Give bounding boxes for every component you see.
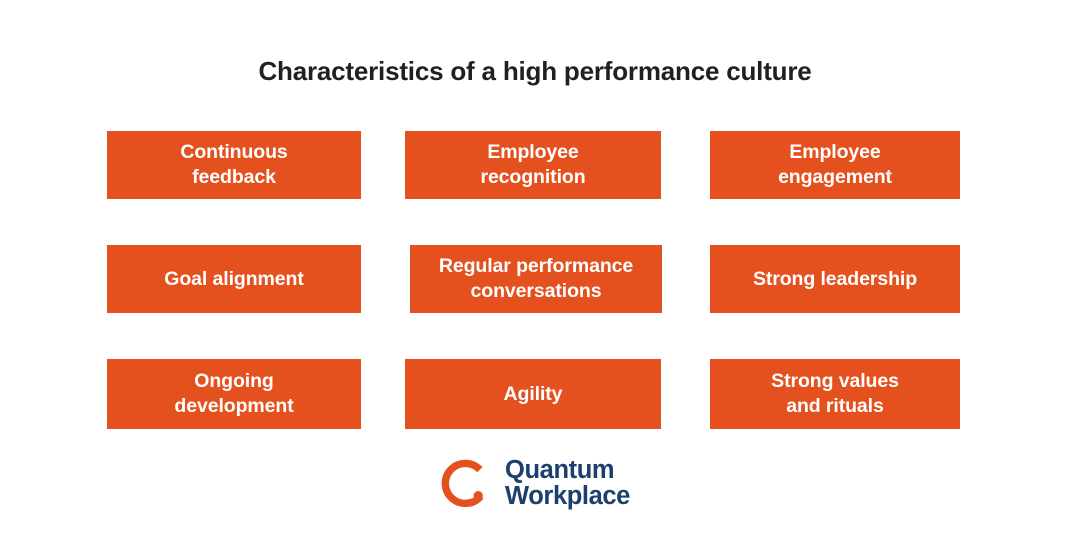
card-line-2: development (174, 395, 293, 417)
card-line-1: Ongoing (194, 370, 273, 392)
card-line-2: conversations (471, 280, 602, 302)
card-line-1: Strong values (771, 370, 899, 392)
characteristic-card-label: Ongoingdevelopment (113, 369, 355, 419)
characteristic-card-label: Strong leadership (716, 267, 954, 292)
characteristic-card: Strong leadership (710, 245, 960, 313)
infographic-canvas: Characteristics of a high performance cu… (0, 0, 1070, 535)
characteristics-grid: Continuousfeedback Employeerecognition E… (0, 0, 1070, 460)
characteristic-card-label: Employeerecognition (411, 140, 655, 190)
card-line-2: recognition (480, 166, 585, 188)
characteristic-card: Agility (405, 359, 661, 429)
characteristic-card: Employeerecognition (405, 131, 661, 199)
characteristic-card-label: Regular performanceconversations (416, 254, 656, 304)
characteristic-card: Strong valuesand rituals (710, 359, 960, 429)
characteristic-card: Ongoingdevelopment (107, 359, 361, 429)
quantum-workplace-ring-icon (440, 456, 494, 510)
characteristic-card-label: Goal alignment (113, 267, 355, 292)
card-line-2: and rituals (786, 395, 884, 417)
card-line-1: Continuous (180, 141, 287, 163)
card-line-1: Employee (487, 141, 578, 163)
characteristic-card-label: Agility (411, 382, 655, 407)
characteristic-card-label: Strong valuesand rituals (716, 369, 954, 419)
brand-logo: Quantum Workplace (0, 452, 1070, 514)
card-line-2: engagement (778, 166, 892, 188)
brand-logo-line-2: Workplace (505, 483, 630, 509)
characteristic-card: Regular performanceconversations (410, 245, 662, 313)
card-line-1: Regular performance (439, 255, 633, 277)
characteristic-card-label: Continuousfeedback (113, 140, 355, 190)
characteristic-card-label: Employeeengagement (716, 140, 954, 190)
characteristic-card: Goal alignment (107, 245, 361, 313)
card-line-1: Employee (789, 141, 880, 163)
characteristic-card: Employeeengagement (710, 131, 960, 199)
brand-logo-wordmark: Quantum Workplace (505, 457, 630, 509)
card-line-2: feedback (192, 166, 276, 188)
characteristic-card: Continuousfeedback (107, 131, 361, 199)
brand-logo-line-1: Quantum (505, 457, 630, 483)
